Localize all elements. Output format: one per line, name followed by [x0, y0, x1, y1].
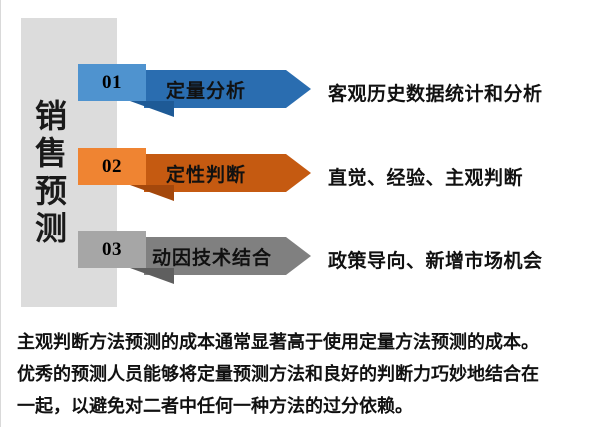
step-number-box-2[interactable]: 02 — [78, 148, 146, 185]
title-char-2: 售 — [25, 135, 77, 172]
title-char-1: 销 — [25, 98, 77, 135]
step-number-3: 03 — [102, 239, 122, 261]
step-description-2: 直觉、经验、主观判断 — [328, 163, 523, 190]
step-number-2: 02 — [102, 156, 122, 178]
step-description-1: 客观历史数据统计和分析 — [328, 79, 543, 106]
slide-canvas: 销 售 预 测 定量分析 01 客观历史数据统计和分析 定性判断 02 直觉、经… — [0, 0, 600, 427]
summary-line-1: 主观判断方法预测的成本通常显著高于使用定量方法预测的成本。 — [17, 326, 587, 358]
arrow-label-2: 定性判断 — [166, 160, 246, 187]
step-number-box-1[interactable]: 01 — [78, 64, 146, 101]
step-number-1: 01 — [102, 72, 122, 94]
summary-paragraph: 主观判断方法预测的成本通常显著高于使用定量方法预测的成本。 优秀的预测人员能够将… — [17, 326, 587, 422]
step-description-3: 政策导向、新增市场机会 — [328, 246, 543, 273]
summary-line-3: 一起，以避免对二者中任何一种方法的过分依赖。 — [17, 390, 587, 422]
page-title: 销 售 预 测 — [25, 98, 77, 248]
shadow-wedge-2 — [130, 185, 174, 201]
shadow-wedge-3 — [130, 268, 174, 284]
step-number-box-3[interactable]: 03 — [78, 231, 146, 268]
summary-line-2: 优秀的预测人员能够将定量预测方法和良好的判断力巧妙地结合在 — [17, 358, 587, 390]
shadow-wedge-1 — [130, 101, 174, 117]
title-char-3: 预 — [25, 173, 77, 210]
arrow-label-3: 动因技术结合 — [152, 243, 272, 270]
arrow-label-1: 定量分析 — [166, 76, 246, 103]
title-char-4: 测 — [25, 210, 77, 247]
